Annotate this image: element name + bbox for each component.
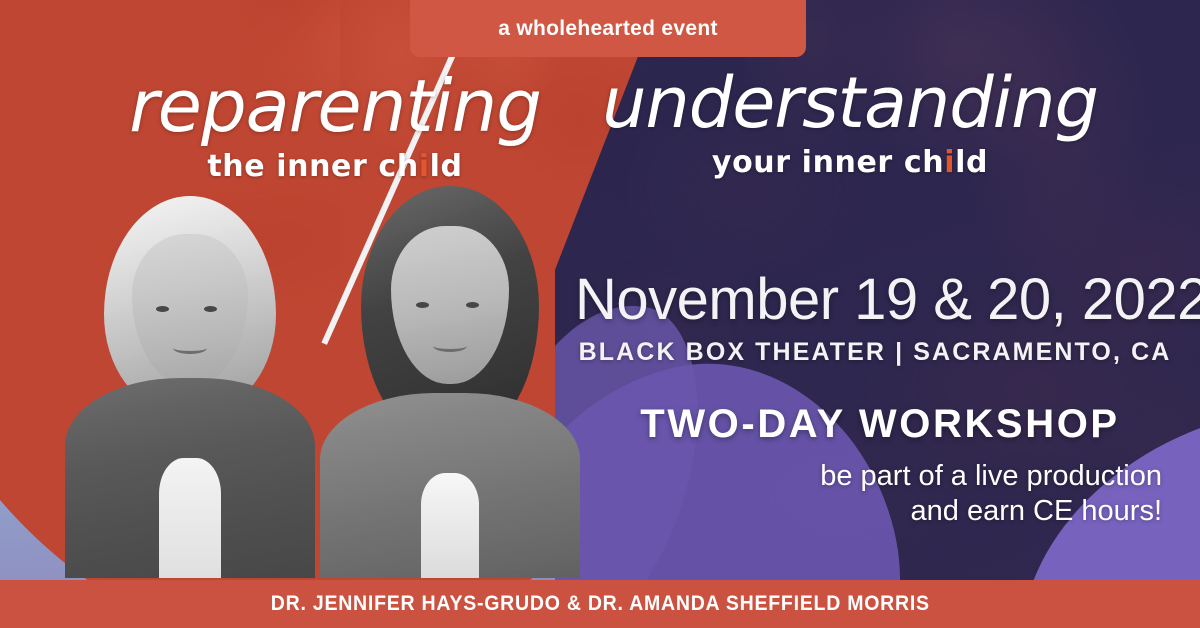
presenter-photo-right — [320, 186, 580, 578]
workshop-description: be part of a live production and earn CE… — [590, 459, 1170, 530]
right-title-group: understanding your inner child — [600, 68, 1100, 180]
left-title-subtitle: the inner child — [120, 149, 550, 184]
left-subtitle-accent-i: i — [419, 149, 430, 184]
presenter-left-eye-1 — [156, 306, 169, 312]
left-title-script: reparenting — [120, 70, 550, 143]
presenters-bar: DR. JENNIFER HAYS-GRUDO & DR. AMANDA SHE… — [0, 580, 1200, 628]
left-title-group: reparenting the inner child — [120, 70, 550, 184]
right-title-script: understanding — [600, 68, 1100, 139]
presenter-left-eye-2 — [204, 306, 217, 312]
left-subtitle-post: ld — [430, 149, 463, 184]
event-venue-location: BLACK BOX THEATER | SACRAMENTO, CA — [575, 338, 1175, 367]
presenter-right-body — [320, 393, 580, 578]
presenter-right-mouth — [433, 340, 467, 352]
event-type-banner: a wholehearted event — [410, 0, 806, 57]
right-subtitle-pre: your inner ch — [712, 145, 944, 180]
presenter-right-eye-2 — [466, 302, 479, 308]
workshop-title: TWO-DAY WORKSHOP — [590, 402, 1170, 447]
event-date: November 19 & 20, 2022 — [575, 270, 1175, 331]
workshop-description-line-1: be part of a live production — [590, 459, 1162, 494]
right-subtitle-post: ld — [955, 145, 988, 180]
presenter-photo-left — [65, 196, 315, 578]
workshop-group: TWO-DAY WORKSHOP be part of a live produ… — [590, 402, 1170, 530]
event-type-label: a wholehearted event — [498, 17, 718, 41]
right-subtitle-accent-i: i — [944, 145, 955, 180]
event-poster: a wholehearted event reparenting the inn… — [0, 0, 1200, 628]
presenter-right-eye-1 — [416, 302, 429, 308]
left-subtitle-pre: the inner ch — [207, 149, 418, 184]
event-date-group: November 19 & 20, 2022 BLACK BOX THEATER… — [575, 270, 1175, 367]
presenter-photos — [55, 178, 595, 578]
presenter-left-body — [65, 378, 315, 578]
right-title-subtitle: your inner child — [600, 145, 1100, 180]
presenter-left-mouth — [173, 342, 207, 354]
presenter-left-shirt — [159, 458, 221, 578]
presenters-names: DR. JENNIFER HAYS-GRUDO & DR. AMANDA SHE… — [270, 592, 929, 616]
workshop-description-line-2: and earn CE hours! — [590, 494, 1162, 529]
presenter-right-shirt — [421, 473, 479, 578]
